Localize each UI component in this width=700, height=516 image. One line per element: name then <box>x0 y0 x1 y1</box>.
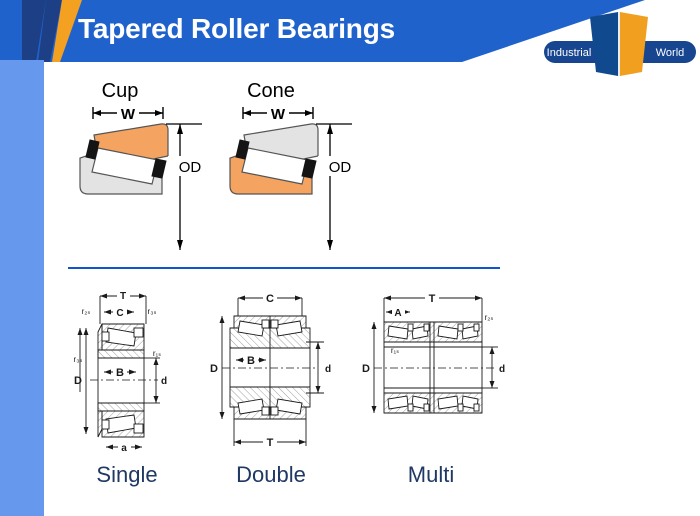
sidebar-accent-strip <box>0 60 44 516</box>
cone-diagram: W OD <box>212 102 372 257</box>
single-label-r3s-right: r₃ₛ <box>148 307 157 316</box>
double-label-T: T <box>267 437 274 449</box>
multi-label-D: D <box>362 363 370 375</box>
logo-orange-panel <box>620 12 648 76</box>
single-caption: Single <box>62 462 192 488</box>
section-divider <box>68 267 500 269</box>
logo-divider <box>618 12 620 76</box>
single-label-C: C <box>116 308 123 319</box>
logo-left-label: Industrial <box>547 47 592 59</box>
double-caption: Double <box>206 462 336 488</box>
cone-title: Cone <box>226 80 316 103</box>
multi-label-A: A <box>394 308 401 319</box>
multi-caption: Multi <box>366 462 496 488</box>
single-label-a: a <box>121 443 127 454</box>
cup-title: Cup <box>78 80 162 103</box>
single-label-r2s-left: r₂ₛ <box>82 307 91 316</box>
single-label-T: T <box>120 291 126 302</box>
single-label-r1s-right: r₁ₛ <box>153 349 161 358</box>
double-label-D: D <box>210 363 218 375</box>
logo-blue-panel <box>590 12 618 76</box>
cone-od-label: OD <box>329 159 352 176</box>
single-label-r3s-left: r₃ₛ <box>74 355 83 364</box>
double-label-C: C <box>266 293 274 305</box>
cup-od-label: OD <box>179 159 202 176</box>
single-bearing-diagram: T C B D d a r₂ₛ r₃ₛ r₃ₛ r₁ₛ <box>62 280 192 455</box>
single-label-B: B <box>116 367 124 379</box>
single-label-D: D <box>74 375 82 387</box>
multi-label-r2s: r₂ₛ <box>485 313 494 322</box>
brand-logo: Industrial World <box>540 4 700 84</box>
double-bearing-diagram: C B D d T <box>206 280 336 455</box>
slide-canvas: Tapered Roller Bearings Industrial World… <box>0 0 700 516</box>
double-label-B: B <box>247 355 255 367</box>
multi-bearing-diagram: T A D d r₂ₛ r₁ₛ <box>358 280 508 455</box>
cup-diagram: W OD <box>62 102 222 257</box>
multi-label-d: d <box>499 364 505 375</box>
cone-od-dimension <box>316 124 352 250</box>
cone-w-label: W <box>271 106 286 123</box>
single-label-d: d <box>161 376 167 387</box>
multi-label-T: T <box>429 293 436 305</box>
cup-od-dimension <box>166 124 202 250</box>
page-title: Tapered Roller Bearings <box>78 12 395 46</box>
cup-w-label: W <box>121 106 136 123</box>
double-label-d: d <box>325 364 331 375</box>
logo-right-label: World <box>656 47 685 59</box>
multi-label-r1s: r₁ₛ <box>391 346 399 355</box>
